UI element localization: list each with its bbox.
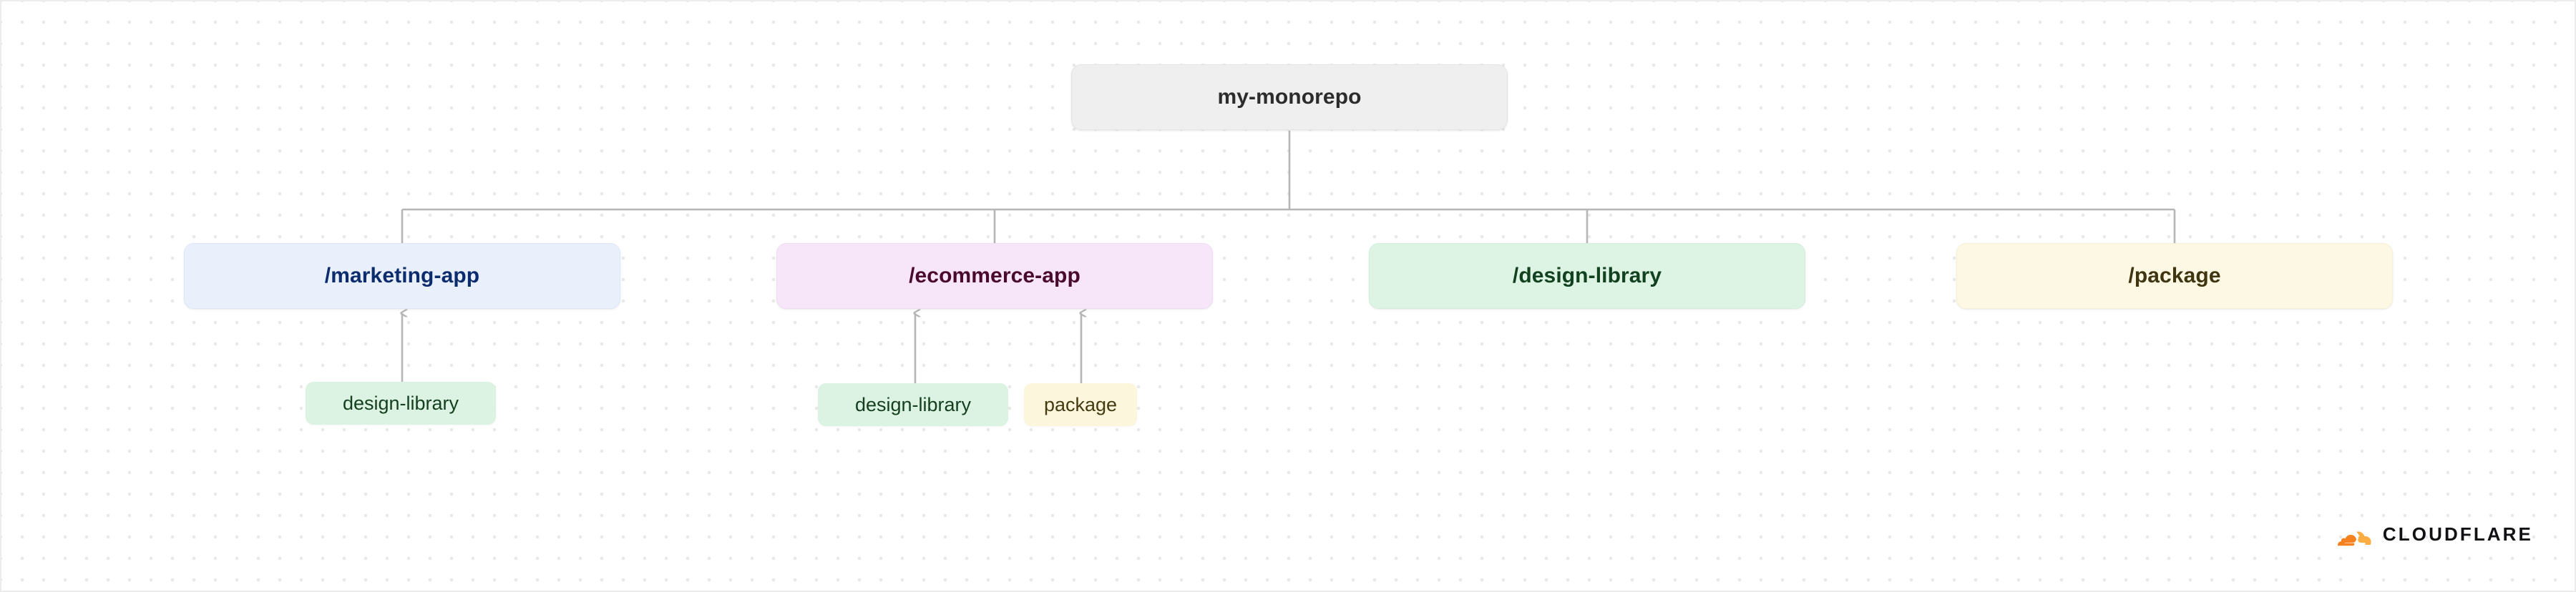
diagram-canvas: my-monorepo /marketing-app design-librar… [0,0,2576,592]
cloudflare-cloud-icon [2317,522,2373,546]
cloudflare-wordmark: CLOUDFLARE [2383,525,2533,543]
node-label: my-monorepo [1217,85,1361,109]
node-label: /design-library [1513,264,1662,288]
dependency-tag-label: design-library [855,394,971,416]
node-ecommerce-app[interactable]: /ecommerce-app [776,243,1213,309]
node-label: /marketing-app [325,264,479,288]
dependency-tag-label: package [1044,394,1117,416]
dependency-tag-design-library[interactable]: design-library [306,382,496,425]
node-design-library[interactable]: /design-library [1369,243,1805,309]
node-my-monorepo[interactable]: my-monorepo [1071,64,1508,130]
node-label: /ecommerce-app [909,264,1080,288]
cloudflare-logo: CLOUDFLARE [2317,522,2533,546]
node-package[interactable]: /package [1956,243,2393,309]
dependency-tag-design-library[interactable]: design-library [818,383,1008,426]
dependency-tag-package[interactable]: package [1024,383,1137,426]
dependency-tag-label: design-library [343,393,459,415]
node-label: /package [2128,264,2220,288]
node-marketing-app[interactable]: /marketing-app [184,243,620,309]
